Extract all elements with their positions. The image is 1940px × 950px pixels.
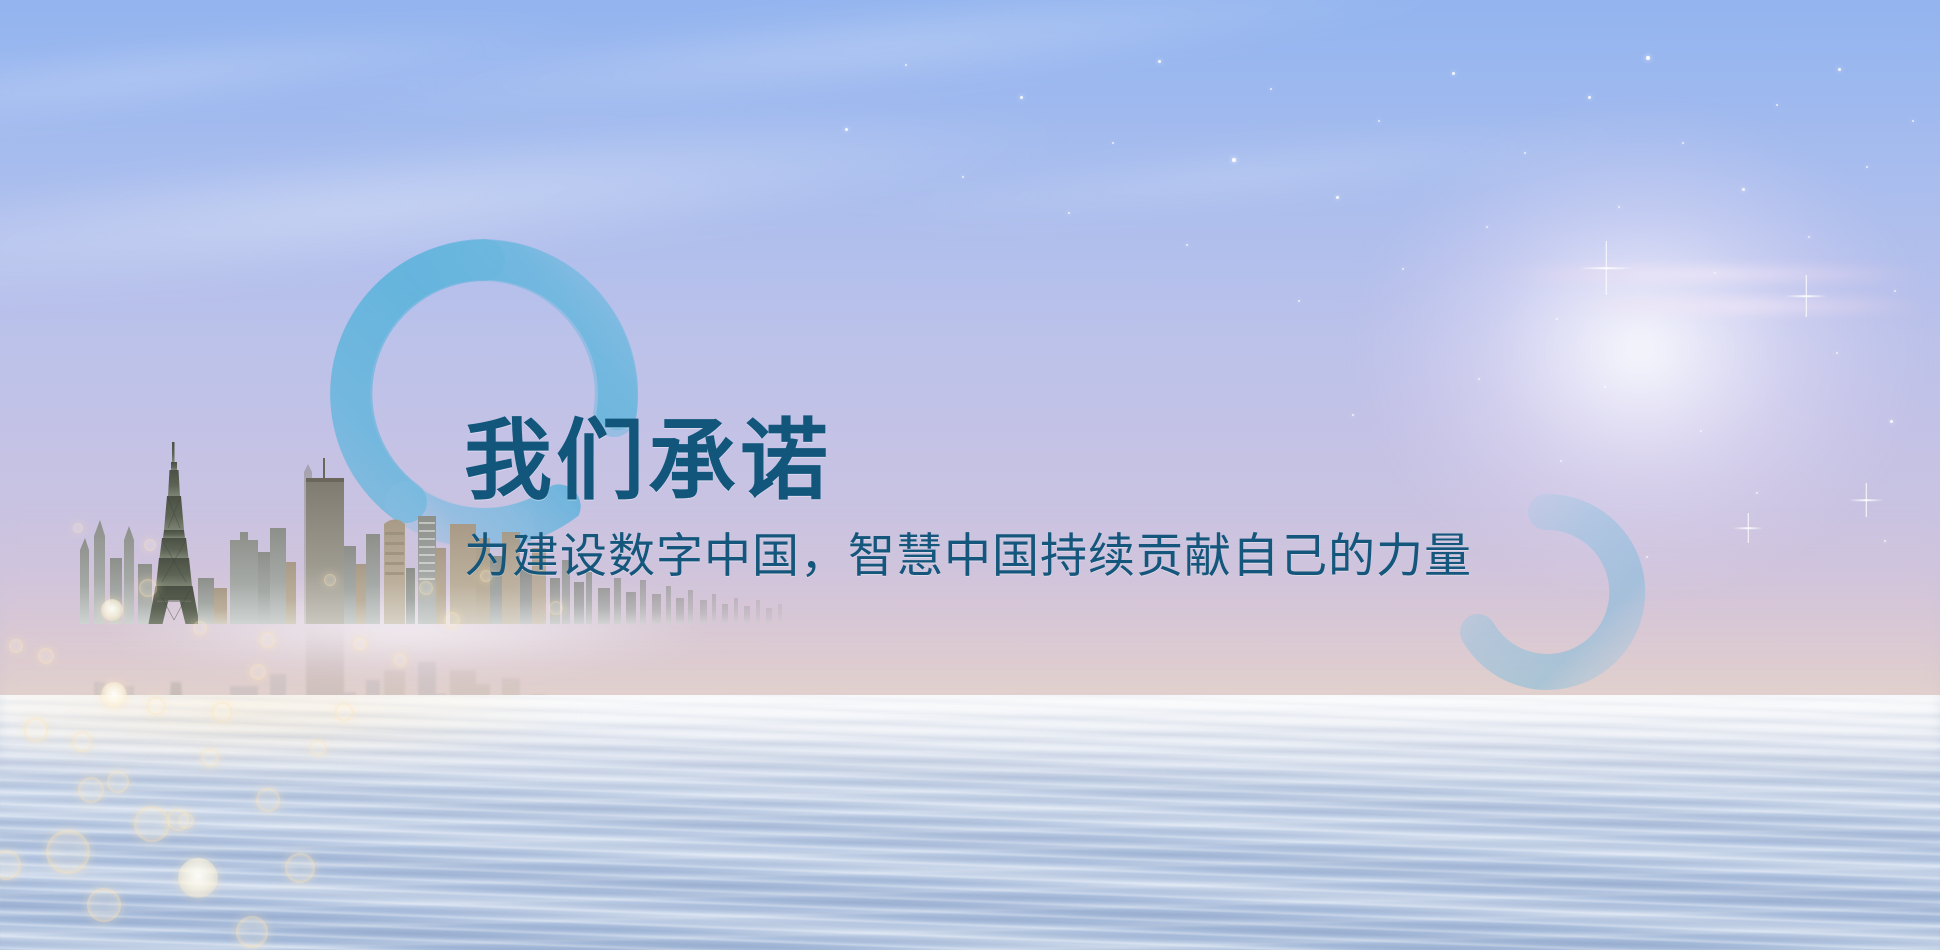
banner-headline: 我们承诺 [464,416,1584,506]
water-surface [0,695,1940,950]
water-ripples-secondary [0,695,1940,950]
banner-copy: 我们承诺 为建设数字中国，智慧中国持续贡献自己的力量 [464,416,1584,582]
banner-subheadline: 为建设数字中国，智慧中国持续贡献自己的力量 [464,530,1584,583]
hero-banner: 我们承诺 为建设数字中国，智慧中国持续贡献自己的力量 [0,0,1940,950]
